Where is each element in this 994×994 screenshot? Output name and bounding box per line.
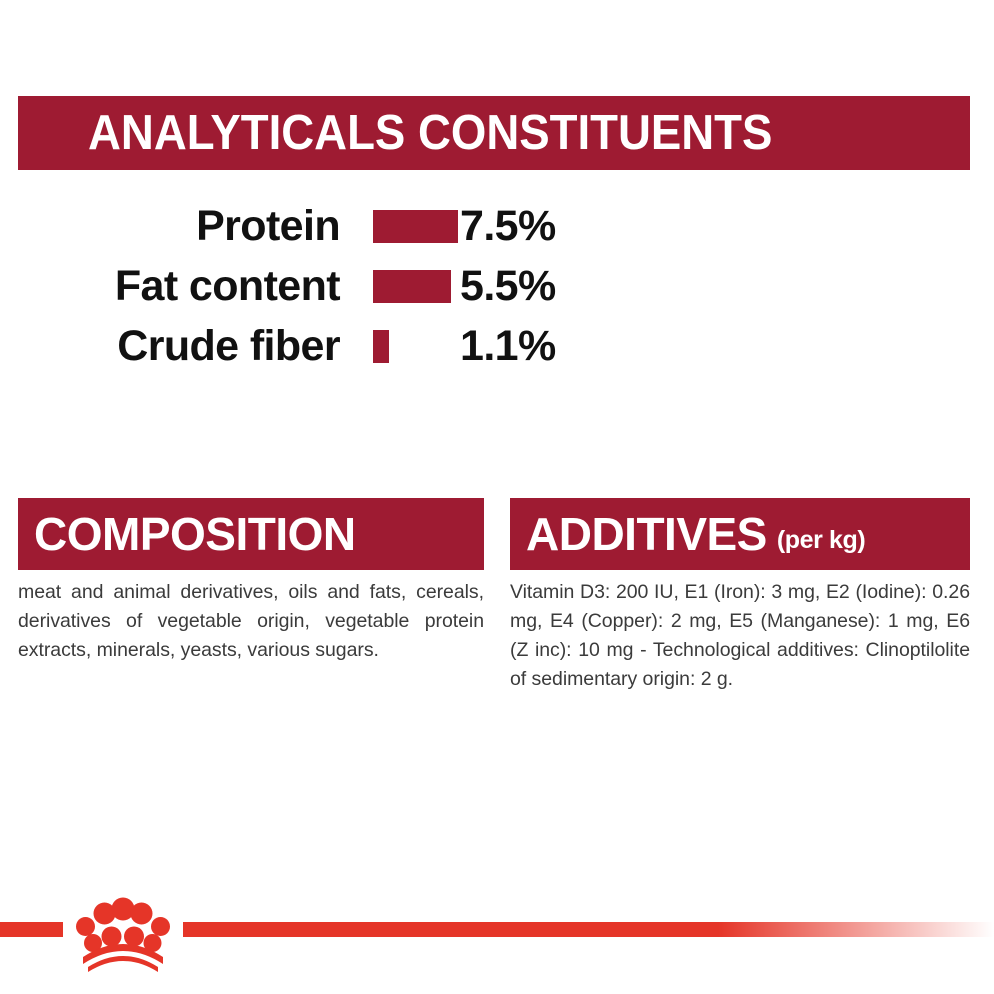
composition-body-text: meat and animal derivatives, oils and fa… — [18, 578, 484, 665]
nutrition-panel: ANALYTICALS CONSTITUENTS Protein 7.5% Fa… — [0, 0, 994, 994]
constituent-bar-track-protein — [340, 210, 458, 243]
additives-header-bar: ADDITIVES (per kg) — [510, 498, 970, 570]
additives-panel: ADDITIVES (per kg) Vitamin D3: 200 IU, E… — [510, 498, 970, 693]
constituent-bar-track-crude-fiber — [340, 330, 458, 363]
constituent-label-fat-content: Fat content — [0, 265, 340, 308]
footer-rule-left — [0, 922, 63, 937]
analyticals-header-bar: ANALYTICALS CONSTITUENTS — [18, 96, 970, 170]
footer-rule-right — [183, 922, 994, 937]
constituent-label-crude-fiber: Crude fiber — [0, 325, 340, 368]
constituent-label-protein: Protein — [0, 205, 340, 248]
constituent-value-crude-fiber: 1.1% — [460, 325, 556, 368]
composition-panel: COMPOSITION meat and animal derivatives,… — [18, 498, 484, 665]
constituent-row: Crude fiber 1.1% — [0, 316, 994, 376]
constituent-bar-crude-fiber — [373, 330, 389, 363]
constituent-value-fat-content: 5.5% — [460, 265, 556, 308]
constituent-bar-fat-content — [373, 270, 451, 303]
constituent-row: Fat content 5.5% — [0, 256, 994, 316]
constituent-bar-track-fat-content — [340, 270, 458, 303]
additives-body-text: Vitamin D3: 200 IU, E1 (Iron): 3 mg, E2 … — [510, 578, 970, 693]
composition-header-bar: COMPOSITION — [18, 498, 484, 570]
constituent-value-protein: 7.5% — [460, 205, 556, 248]
composition-header-title: COMPOSITION — [34, 511, 356, 557]
royal-canin-crown-icon — [63, 886, 183, 972]
constituent-row: Protein 7.5% — [0, 196, 994, 256]
additives-header-title: ADDITIVES — [526, 511, 767, 557]
additives-header-subtitle: (per kg) — [777, 528, 865, 553]
constituent-bar-protein — [373, 210, 458, 243]
footer — [0, 886, 994, 994]
analyticals-header-title: ANALYTICALS CONSTITUENTS — [88, 109, 772, 158]
analyticals-chart: Protein 7.5% Fat content 5.5% Crude fibe… — [0, 196, 994, 376]
